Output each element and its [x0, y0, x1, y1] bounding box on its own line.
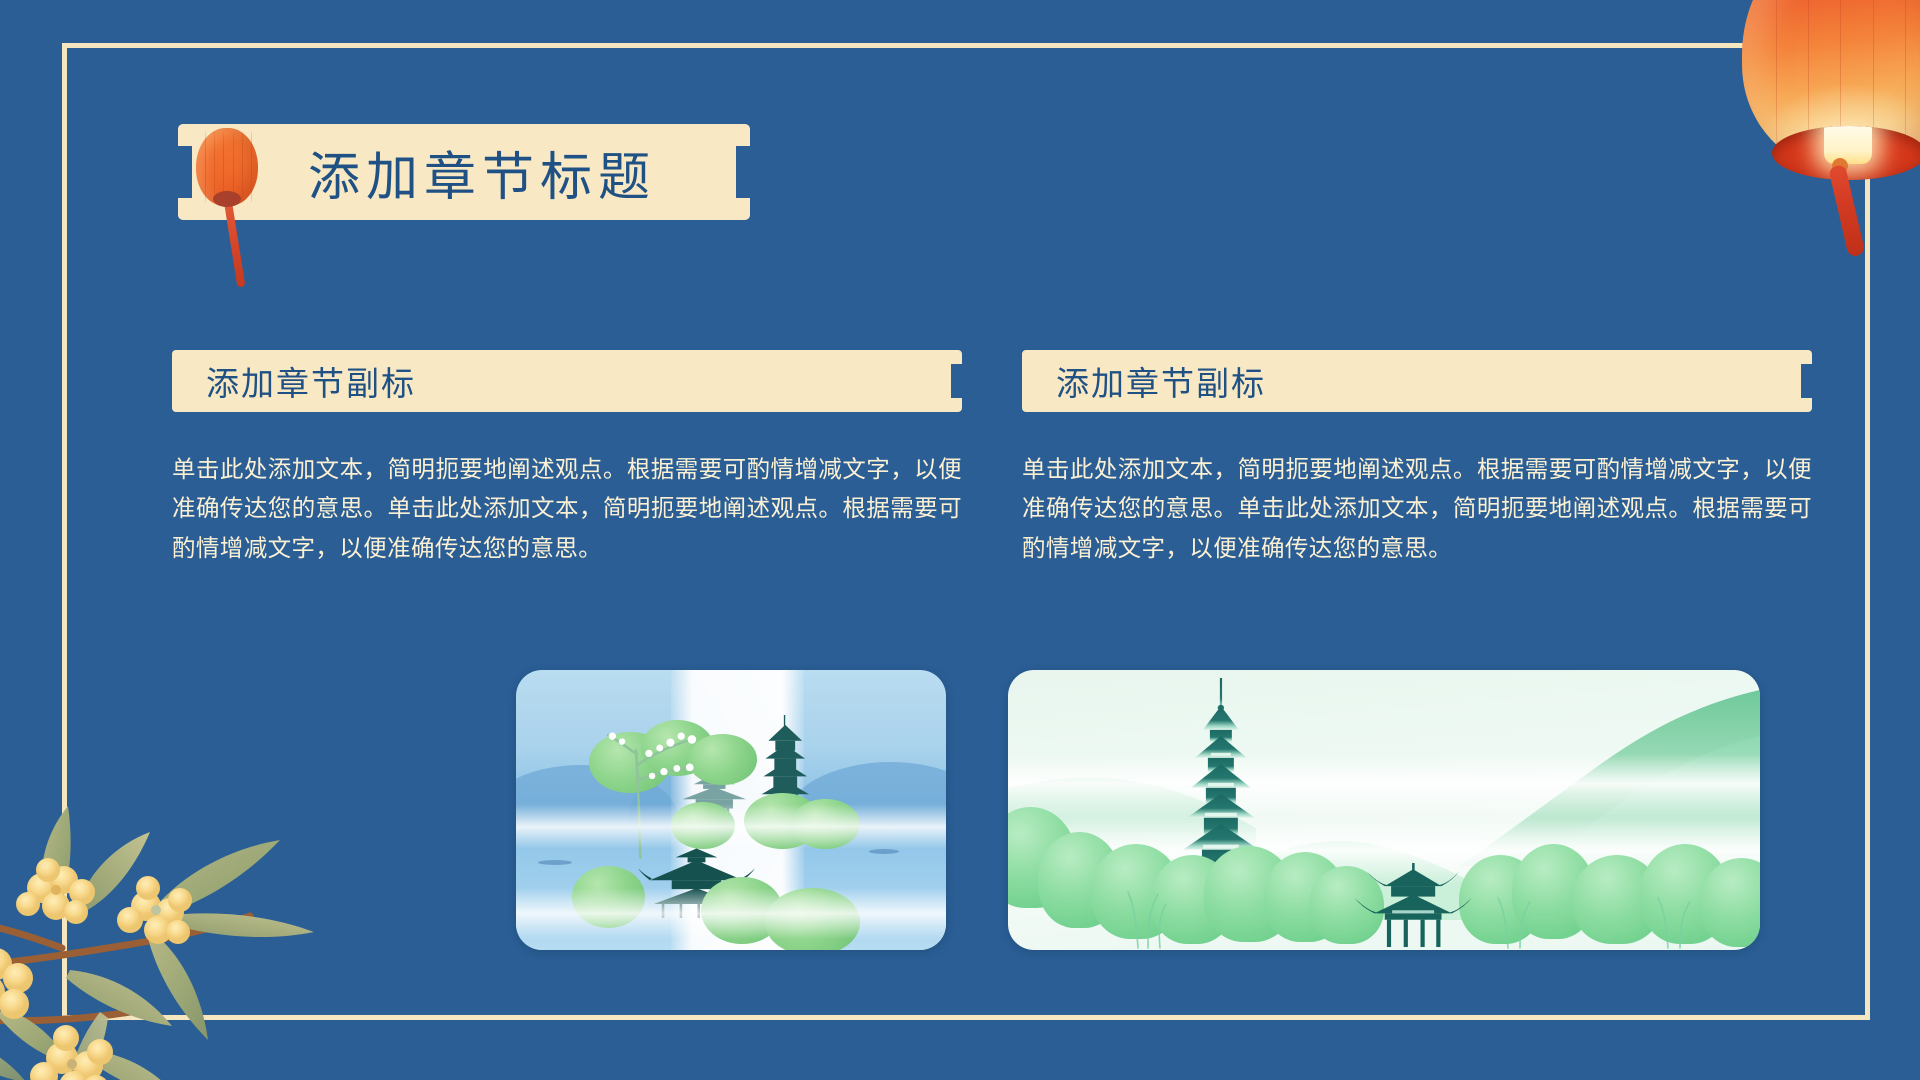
sky-lantern-icon [1742, 0, 1920, 210]
body-paragraph-right: 单击此处添加文本，简明扼要地阐述观点。根据需要可酌情增减文字，以便准确传达您的意… [1022, 450, 1812, 568]
subtitle-banner-left[interactable]: 添加章节副标 [172, 350, 962, 412]
subtitle-label: 添加章节副标 [206, 357, 416, 405]
osmanthus-branch-icon [0, 720, 380, 1080]
small-lantern-mouth [213, 191, 241, 207]
image-card-left[interactable] [516, 670, 946, 950]
body-paragraph-left: 单击此处添加文本，简明扼要地阐述观点。根据需要可酌情增减文字，以便准确传达您的意… [172, 450, 962, 568]
content-column-left: 添加章节副标 单击此处添加文本，简明扼要地阐述观点。根据需要可酌情增减文字，以便… [172, 350, 962, 568]
section-title-banner[interactable]: 添加章节标题 [178, 124, 750, 220]
content-column-right: 添加章节副标 单击此处添加文本，简明扼要地阐述观点。根据需要可酌情增减文字，以便… [1022, 350, 1812, 568]
image-card-right[interactable] [1008, 670, 1760, 950]
small-lantern-tassel [224, 201, 245, 287]
mountain-landscape-illustration [1008, 670, 1760, 950]
subtitle-label: 添加章节副标 [1056, 357, 1266, 405]
slide-canvas: 添加章节标题 添加章节副标 单击此处添加文本，简明扼要地阐述观点。根据需要可酌情… [0, 0, 1920, 1080]
grass-decor [1008, 670, 1760, 950]
lantern-icon [196, 128, 258, 288]
page-title: 添加章节标题 [308, 135, 656, 210]
subtitle-banner-right[interactable]: 添加章节副标 [1022, 350, 1812, 412]
lake-landscape-illustration [516, 670, 946, 950]
lantern-flame-icon [1824, 126, 1872, 164]
